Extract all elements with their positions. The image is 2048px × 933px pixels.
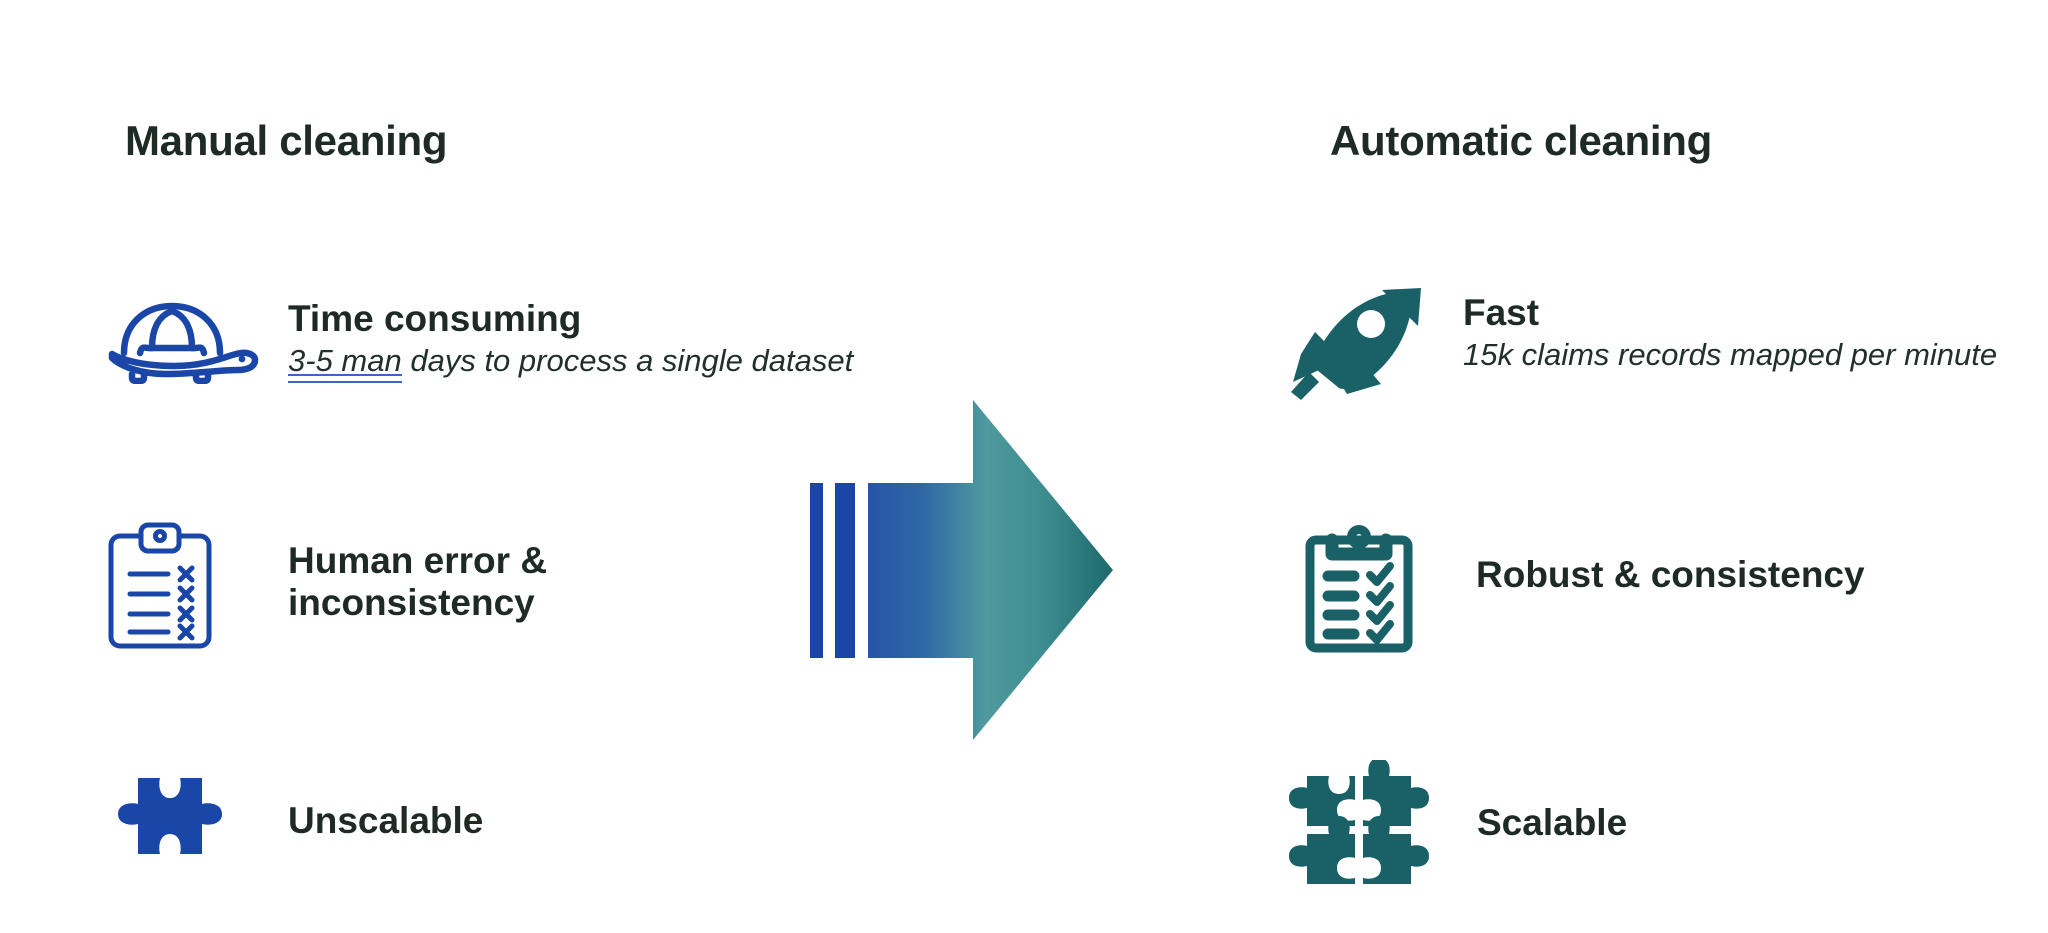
- feature-title: Scalable: [1477, 802, 1627, 844]
- feature-text-scalable: Scalable: [1477, 760, 1627, 844]
- feature-title: Fast: [1463, 292, 1997, 334]
- feature-text-unscalable: Unscalable: [288, 772, 483, 842]
- arrow-bar-2: [835, 483, 855, 658]
- feature-text-fast: Fast 15k claims records mapped per minut…: [1463, 288, 1997, 375]
- puzzle-single-icon: [100, 772, 240, 882]
- arrow-bar-1: [810, 483, 823, 658]
- puzzle-four-icon: [1285, 760, 1435, 900]
- feature-subtitle-rest: days to process a single dataset: [402, 343, 853, 378]
- feature-title: Unscalable: [288, 800, 483, 842]
- transition-arrow: [805, 395, 1125, 745]
- feature-row-fast: Fast 15k claims records mapped per minut…: [1285, 288, 1997, 400]
- slide-canvas: Manual cleaning Time co: [0, 0, 2048, 933]
- feature-title: Human error & inconsistency: [288, 540, 547, 624]
- arrow-body: [868, 400, 1113, 740]
- rocket-icon: [1285, 288, 1425, 400]
- grammar-underlined-text: 3-5 man: [288, 342, 402, 381]
- column-title-automatic: Automatic cleaning: [1330, 117, 1712, 165]
- feature-subtitle: 15k claims records mapped per minute: [1463, 336, 1997, 375]
- feature-row-unscalable: Unscalable: [100, 772, 483, 882]
- feature-subtitle: 3-5 man days to process a single dataset: [288, 342, 853, 381]
- feature-row-robust: Robust & consistency: [1300, 524, 1865, 654]
- feature-title: Robust & consistency: [1476, 554, 1865, 596]
- clipboard-x-icon: [100, 522, 220, 652]
- feature-title: Time consuming: [288, 298, 853, 340]
- clipboard-check-icon: [1300, 524, 1418, 654]
- feature-row-scalable: Scalable: [1285, 760, 1627, 900]
- turtle-icon: [100, 296, 260, 384]
- feature-text-time-consuming: Time consuming 3-5 man days to process a…: [288, 296, 853, 381]
- feature-text-robust: Robust & consistency: [1476, 524, 1865, 596]
- column-title-manual: Manual cleaning: [125, 117, 447, 165]
- feature-row-time-consuming: Time consuming 3-5 man days to process a…: [100, 296, 853, 384]
- feature-row-human-error: Human error & inconsistency: [100, 522, 547, 652]
- feature-text-human-error: Human error & inconsistency: [288, 522, 547, 624]
